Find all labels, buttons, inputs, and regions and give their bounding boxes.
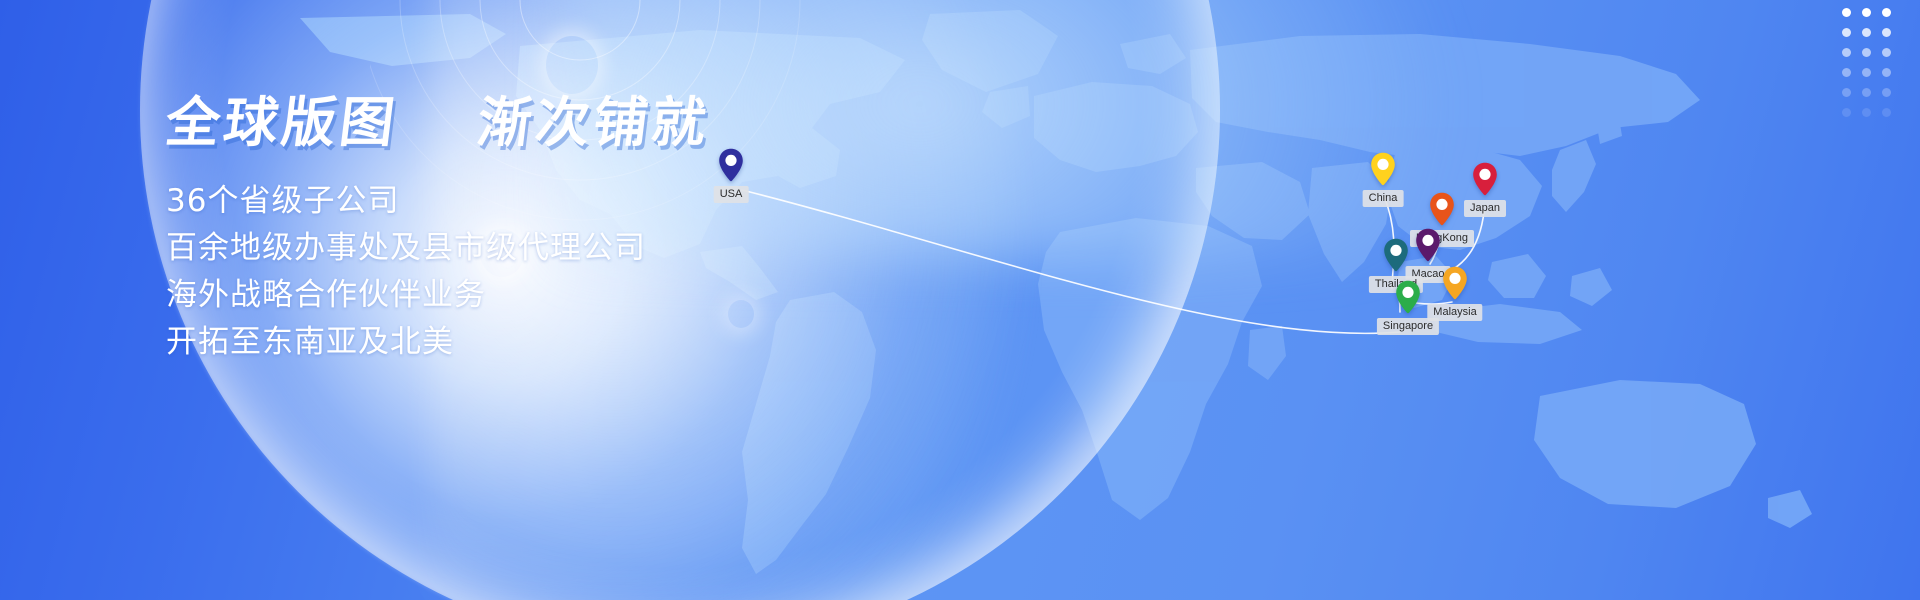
subtitle-line-2: 百余地级办事处及县市级代理公司 bbox=[166, 225, 926, 272]
subtitle-line-1: 36个省级子公司 bbox=[166, 178, 926, 225]
sparkle-icon bbox=[546, 36, 598, 94]
map-marker-label: China bbox=[1363, 190, 1404, 207]
location-pin-icon[interactable] bbox=[1383, 238, 1409, 272]
location-pin-icon[interactable] bbox=[718, 148, 744, 182]
headline-part-2: 渐次铺就 bbox=[474, 96, 713, 150]
map-marker-label: Japan bbox=[1464, 200, 1506, 217]
location-pin-icon[interactable] bbox=[1395, 280, 1421, 314]
banner-subtitle-list: 36个省级子公司 百余地级办事处及县市级代理公司 海外战略合作伙伴业务 开拓至东… bbox=[166, 178, 926, 366]
subtitle-line-3: 海外战略合作伙伴业务 bbox=[166, 272, 926, 319]
banner-copy: 全球版图 渐次铺就 36个省级子公司 百余地级办事处及县市级代理公司 海外战略合… bbox=[166, 96, 926, 366]
dot-grid-decoration bbox=[1842, 8, 1896, 122]
location-pin-icon[interactable] bbox=[1415, 228, 1441, 262]
location-pin-icon[interactable] bbox=[1370, 152, 1396, 186]
map-marker-label: Malaysia bbox=[1427, 304, 1482, 321]
global-map-banner: 全球版图 渐次铺就 36个省级子公司 百余地级办事处及县市级代理公司 海外战略合… bbox=[0, 0, 1920, 600]
location-pin-icon[interactable] bbox=[1472, 162, 1498, 196]
map-marker-label: USA bbox=[714, 186, 749, 203]
subtitle-line-4: 开拓至东南亚及北美 bbox=[166, 319, 926, 366]
location-pin-icon[interactable] bbox=[1429, 192, 1455, 226]
page-title: 全球版图 渐次铺就 bbox=[163, 96, 930, 150]
location-pin-icon[interactable] bbox=[1442, 266, 1468, 300]
headline-part-1: 全球版图 bbox=[163, 96, 402, 150]
